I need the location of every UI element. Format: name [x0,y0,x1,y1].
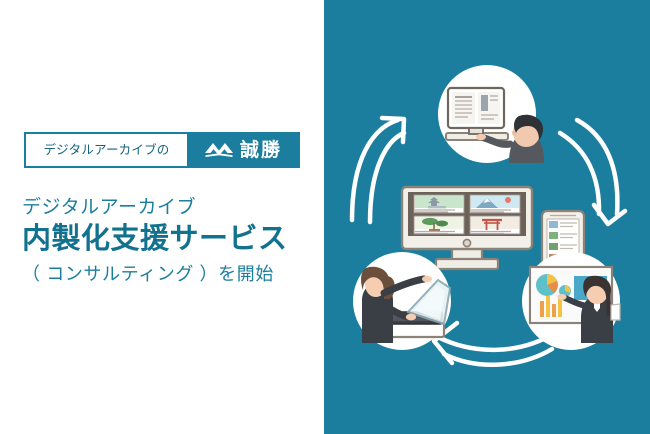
service-cycle-illustration [324,0,650,434]
headline-block: デジタルアーカイブ 内製化支援サービス （ コンサルティング ）を開始 [22,196,312,287]
promo-banner: デジタルアーカイブの 誠勝 デジタルアーカイブ 内製化支援サービス （ コンサル… [0,0,650,434]
node-presentation-consulting [522,252,620,350]
node-document-scanning [353,252,451,350]
illustration-panel [324,0,650,434]
thumbnail-torii-gate [470,216,520,234]
company-logo-lockup: デジタルアーカイブの 誠勝 [24,132,300,168]
thumbnail-castle [414,195,464,213]
left-content-panel: デジタルアーカイブの 誠勝 デジタルアーカイブ 内製化支援サービス （ コンサル… [0,0,324,434]
logo-brand-text: 誠勝 [240,141,282,160]
thumbnail-bonsai [414,216,464,234]
mountain-book-icon [203,140,235,160]
node-cataloging-workstation [438,65,544,163]
arrow-top-to-right [560,120,625,224]
headline-line-2: 内製化支援サービス [22,222,312,257]
headline-line-3: （ コンサルティング ）を開始 [22,263,312,286]
logo-brand-box: 誠勝 [187,134,298,166]
logo-prefix-text: デジタルアーカイブの [43,144,169,157]
headline-line-1: デジタルアーカイブ [22,196,312,220]
arrow-left-to-top [352,118,404,222]
logo-prefix-box: デジタルアーカイブの [26,134,187,166]
thumbnail-mount-fuji [470,195,520,213]
